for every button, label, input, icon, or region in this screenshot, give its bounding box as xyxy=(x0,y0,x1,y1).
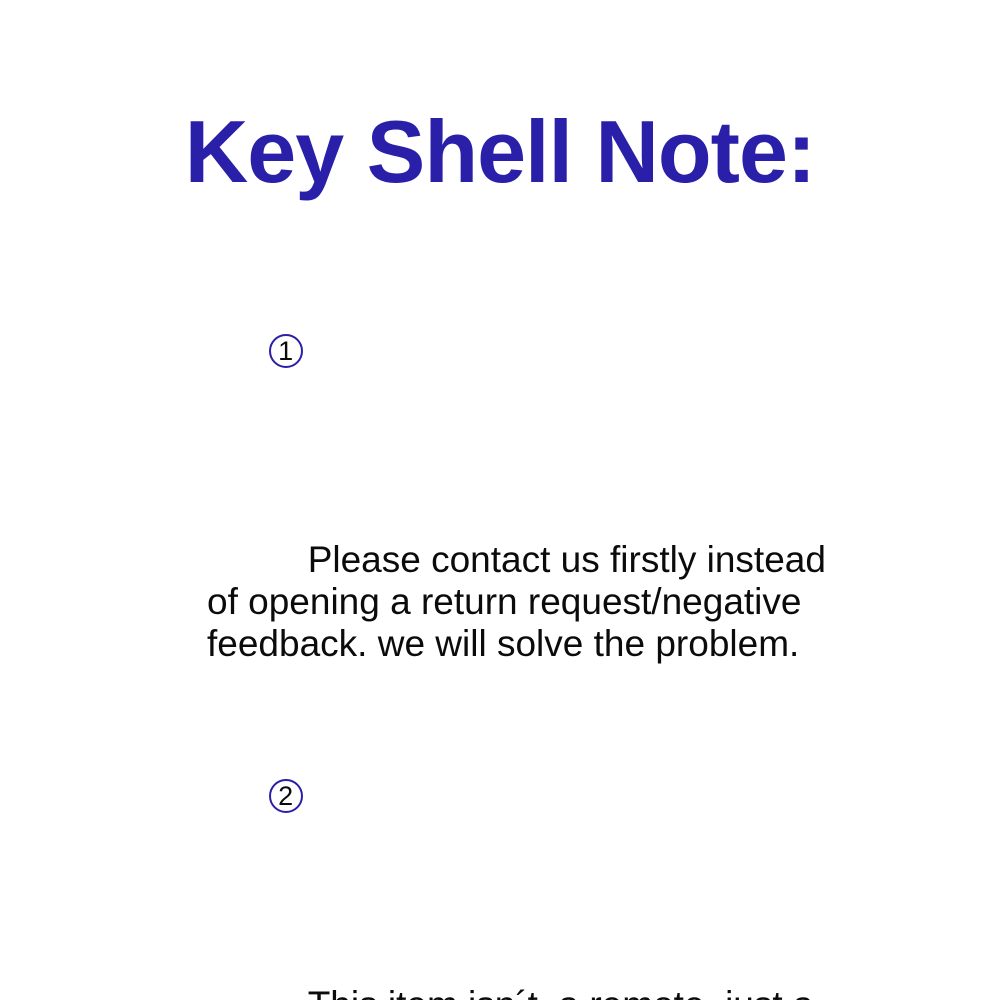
list-item: 2 This item isn´t a remote, just a key f… xyxy=(207,737,827,1000)
circled-number-1-digit: 1 xyxy=(269,334,303,368)
notes-list: 1 Please contact us firstly instead of o… xyxy=(207,292,827,1000)
circled-number-2-icon: 2 xyxy=(269,779,303,813)
circled-number-2-digit: 2 xyxy=(269,779,303,813)
circled-number-1-icon: 1 xyxy=(269,334,303,368)
page-title: Key Shell Note: xyxy=(0,108,1000,196)
list-item: 1 Please contact us firstly instead of o… xyxy=(207,292,827,707)
note-page: Key Shell Note: 1 Please contact us firs… xyxy=(0,0,1000,1000)
